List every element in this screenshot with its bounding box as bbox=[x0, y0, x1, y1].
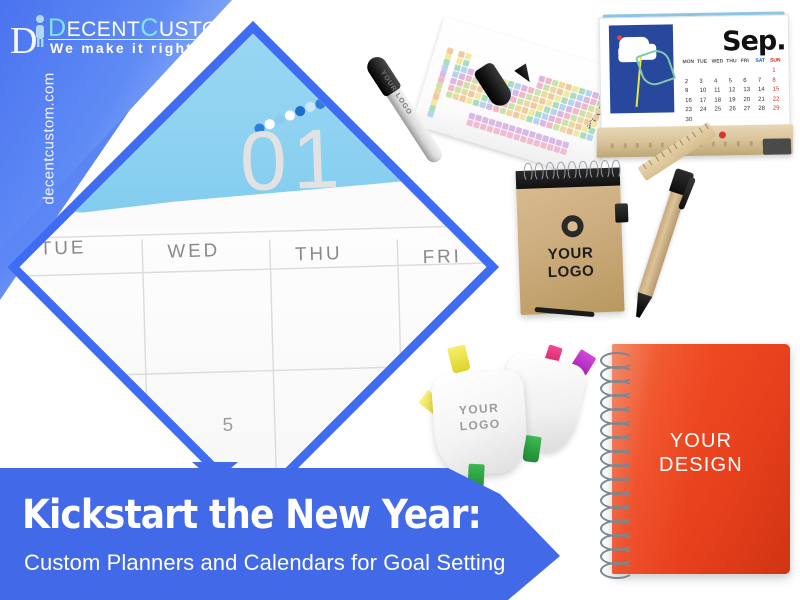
desk-calendar-day: 16 bbox=[685, 98, 692, 104]
base-slot bbox=[661, 143, 664, 148]
red-notebook-imprint-line2: DESIGN bbox=[612, 454, 790, 477]
desk-calendar-day: 11 bbox=[714, 88, 720, 94]
base-slot bbox=[636, 143, 639, 148]
desk-calendar-day: 10 bbox=[700, 88, 707, 94]
desk-calendar-day: 7 bbox=[758, 77, 761, 83]
headline-text: Kickstart the New Year: bbox=[22, 492, 481, 538]
bead bbox=[468, 111, 478, 121]
desk-calendar-day: 17 bbox=[700, 98, 707, 104]
kraft-imprint-line2: LOGO bbox=[519, 261, 624, 282]
base-slot bbox=[611, 143, 614, 148]
ruler-tick bbox=[667, 148, 671, 154]
desk-calendar-day: 3 bbox=[699, 78, 702, 84]
ruler-tick bbox=[661, 152, 665, 158]
periodic-element-cell bbox=[586, 134, 593, 141]
promo-banner: D DECENTCUSTOM We make it right decentcu… bbox=[0, 0, 800, 600]
red-dot-icon bbox=[617, 35, 622, 40]
red-notebook-cover: YOUR DESIGN bbox=[612, 344, 790, 574]
desk-calendar-weekday: SAT bbox=[755, 58, 765, 64]
spiral-coil bbox=[600, 562, 634, 579]
calendar-day-number: 4 bbox=[95, 402, 106, 424]
desk-calendar-day: 13 bbox=[743, 87, 750, 93]
desk-calendar-day: 4 bbox=[714, 78, 717, 84]
bead bbox=[447, 98, 457, 108]
notebook-logo-mark-icon bbox=[561, 215, 584, 238]
eco-pen-nib bbox=[631, 292, 653, 319]
calendar-weekday-header: FRI bbox=[422, 245, 462, 268]
desk-calendar-card: Sep. MONTUEWEDTHUFRISATSUN12345678910111… bbox=[599, 14, 791, 135]
hero-calendar-photo: TUEWEDTHUFRISATSU3114512 01 FEBRUARY 202… bbox=[14, 28, 493, 507]
subheadline-text: Custom Planners and Calendars for Goal S… bbox=[24, 550, 506, 576]
desk-calendar-day: 30 bbox=[685, 117, 692, 123]
bead bbox=[407, 87, 417, 97]
desk-calendar-weekday: THU bbox=[726, 58, 736, 64]
desk-calendar-weekday: SUN bbox=[770, 57, 781, 63]
calendar-month-number: 01 bbox=[238, 110, 346, 211]
ruler-tick bbox=[692, 132, 696, 138]
base-slot bbox=[649, 143, 652, 148]
base-slot bbox=[712, 142, 715, 147]
ruler-tick bbox=[642, 164, 646, 170]
bead bbox=[315, 98, 325, 108]
desk-calendar-grid: MONTUEWEDTHUFRISATSUN1234567891011121314… bbox=[682, 57, 787, 125]
desk-calendar-day: 9 bbox=[685, 88, 688, 94]
calendar-grid-line bbox=[14, 357, 493, 380]
vertical-website-url[interactable]: decentcustom.com bbox=[41, 44, 58, 234]
calendar-weekday-header: TUE bbox=[40, 236, 87, 259]
desk-calendar-day: 20 bbox=[743, 97, 750, 103]
calendar-weekday-header: THU bbox=[295, 242, 343, 265]
desk-calendar-day: 27 bbox=[744, 106, 751, 112]
desk-calendar-day: 14 bbox=[758, 87, 765, 93]
desk-calendar-illustration bbox=[609, 24, 675, 113]
calendar-grid-line bbox=[14, 255, 493, 278]
desk-calendar-day: 22 bbox=[773, 96, 780, 102]
kraft-notebook-cover: YOUR LOGO bbox=[516, 168, 625, 316]
spiral-coil bbox=[600, 160, 610, 179]
desk-calendar-month: Sep. bbox=[722, 25, 786, 57]
bead bbox=[336, 92, 346, 102]
spiral-coil bbox=[589, 160, 599, 179]
desk-calendar-weekday: MON bbox=[682, 59, 694, 65]
bead bbox=[417, 88, 427, 98]
bead bbox=[455, 224, 465, 234]
bead bbox=[475, 221, 485, 231]
brand-logo[interactable]: D DECENTCUSTOM We make it right bbox=[8, 8, 208, 60]
date-marker-icon bbox=[719, 131, 726, 138]
spiral-coil bbox=[534, 162, 544, 181]
product-red-notebook: YOUR DESIGN bbox=[578, 340, 798, 588]
ruler-tick bbox=[705, 124, 709, 130]
bead bbox=[356, 88, 366, 98]
desk-calendar-day: 24 bbox=[700, 107, 707, 113]
red-notebook-imprint-line1: YOUR bbox=[612, 430, 790, 453]
spiral-coil bbox=[578, 161, 588, 180]
calendar-sheet: TUEWEDTHUFRISATSU3114512 bbox=[14, 228, 493, 506]
ruler-tick bbox=[674, 144, 678, 150]
bead bbox=[485, 220, 492, 230]
calendar-weekday-header: WED bbox=[167, 239, 220, 262]
desk-calendar-day: 8 bbox=[772, 77, 775, 83]
base-slot bbox=[749, 141, 752, 146]
desk-calendar-day: 28 bbox=[758, 106, 765, 112]
base-slot bbox=[737, 141, 740, 146]
desk-calendar-day: 6 bbox=[743, 78, 746, 84]
desk-calendar-day: 18 bbox=[714, 97, 721, 103]
ruler-tick bbox=[649, 160, 653, 166]
calendar-grid-line bbox=[14, 239, 27, 506]
bead bbox=[376, 86, 386, 96]
base-slot bbox=[724, 141, 727, 146]
eco-pen bbox=[609, 161, 731, 328]
pen-loop bbox=[615, 203, 629, 222]
desk-calendar-day: 19 bbox=[729, 97, 736, 103]
spiral-coil bbox=[523, 163, 533, 182]
ruler-tick bbox=[698, 128, 702, 134]
bead bbox=[326, 95, 336, 105]
bead bbox=[386, 86, 396, 96]
desk-calendar-day: 1 bbox=[772, 68, 775, 74]
desk-calendar-day: 21 bbox=[758, 97, 765, 103]
bead bbox=[427, 90, 437, 100]
bead bbox=[437, 92, 447, 102]
spiral-coil bbox=[545, 162, 555, 181]
calendar-day-number: 5 bbox=[222, 413, 233, 435]
desk-calendar-day: 2 bbox=[685, 79, 688, 85]
calendar-grid-line bbox=[397, 239, 410, 506]
desk-calendar-day: 15 bbox=[773, 87, 780, 93]
ruler-tick bbox=[686, 136, 690, 142]
product-kraft-notebook: YOUR LOGO bbox=[509, 149, 705, 328]
desk-calendar-foot bbox=[763, 138, 791, 154]
bead bbox=[397, 86, 407, 96]
ruler-tick bbox=[680, 140, 684, 146]
calendar-grid-line bbox=[269, 239, 282, 506]
desk-calendar-day: 29 bbox=[773, 106, 780, 112]
spiral-coil bbox=[567, 161, 577, 180]
base-slot bbox=[623, 143, 626, 148]
bead bbox=[478, 118, 488, 128]
logo-tagline: We make it right bbox=[50, 40, 193, 56]
desk-calendar-day: 12 bbox=[729, 87, 736, 93]
desk-calendar-day: 23 bbox=[685, 107, 692, 113]
bead bbox=[465, 223, 475, 233]
desk-calendar-day: 25 bbox=[714, 107, 721, 113]
desk-calendar-weekday: WED bbox=[712, 58, 724, 64]
bead bbox=[457, 104, 467, 114]
desk-calendar-day: 5 bbox=[729, 78, 732, 84]
desk-calendar-weekday: FRI bbox=[741, 58, 749, 64]
bead bbox=[346, 90, 356, 100]
spiral-coil bbox=[556, 161, 566, 180]
desk-calendar-day: 26 bbox=[729, 107, 736, 113]
hero-diamond-frame: TUEWEDTHUFRISATSU3114512 01 FEBRUARY 202… bbox=[18, 22, 488, 512]
desk-calendar-weekday: TUE bbox=[697, 59, 707, 65]
spiral-coil bbox=[611, 159, 621, 178]
bead bbox=[366, 87, 376, 97]
